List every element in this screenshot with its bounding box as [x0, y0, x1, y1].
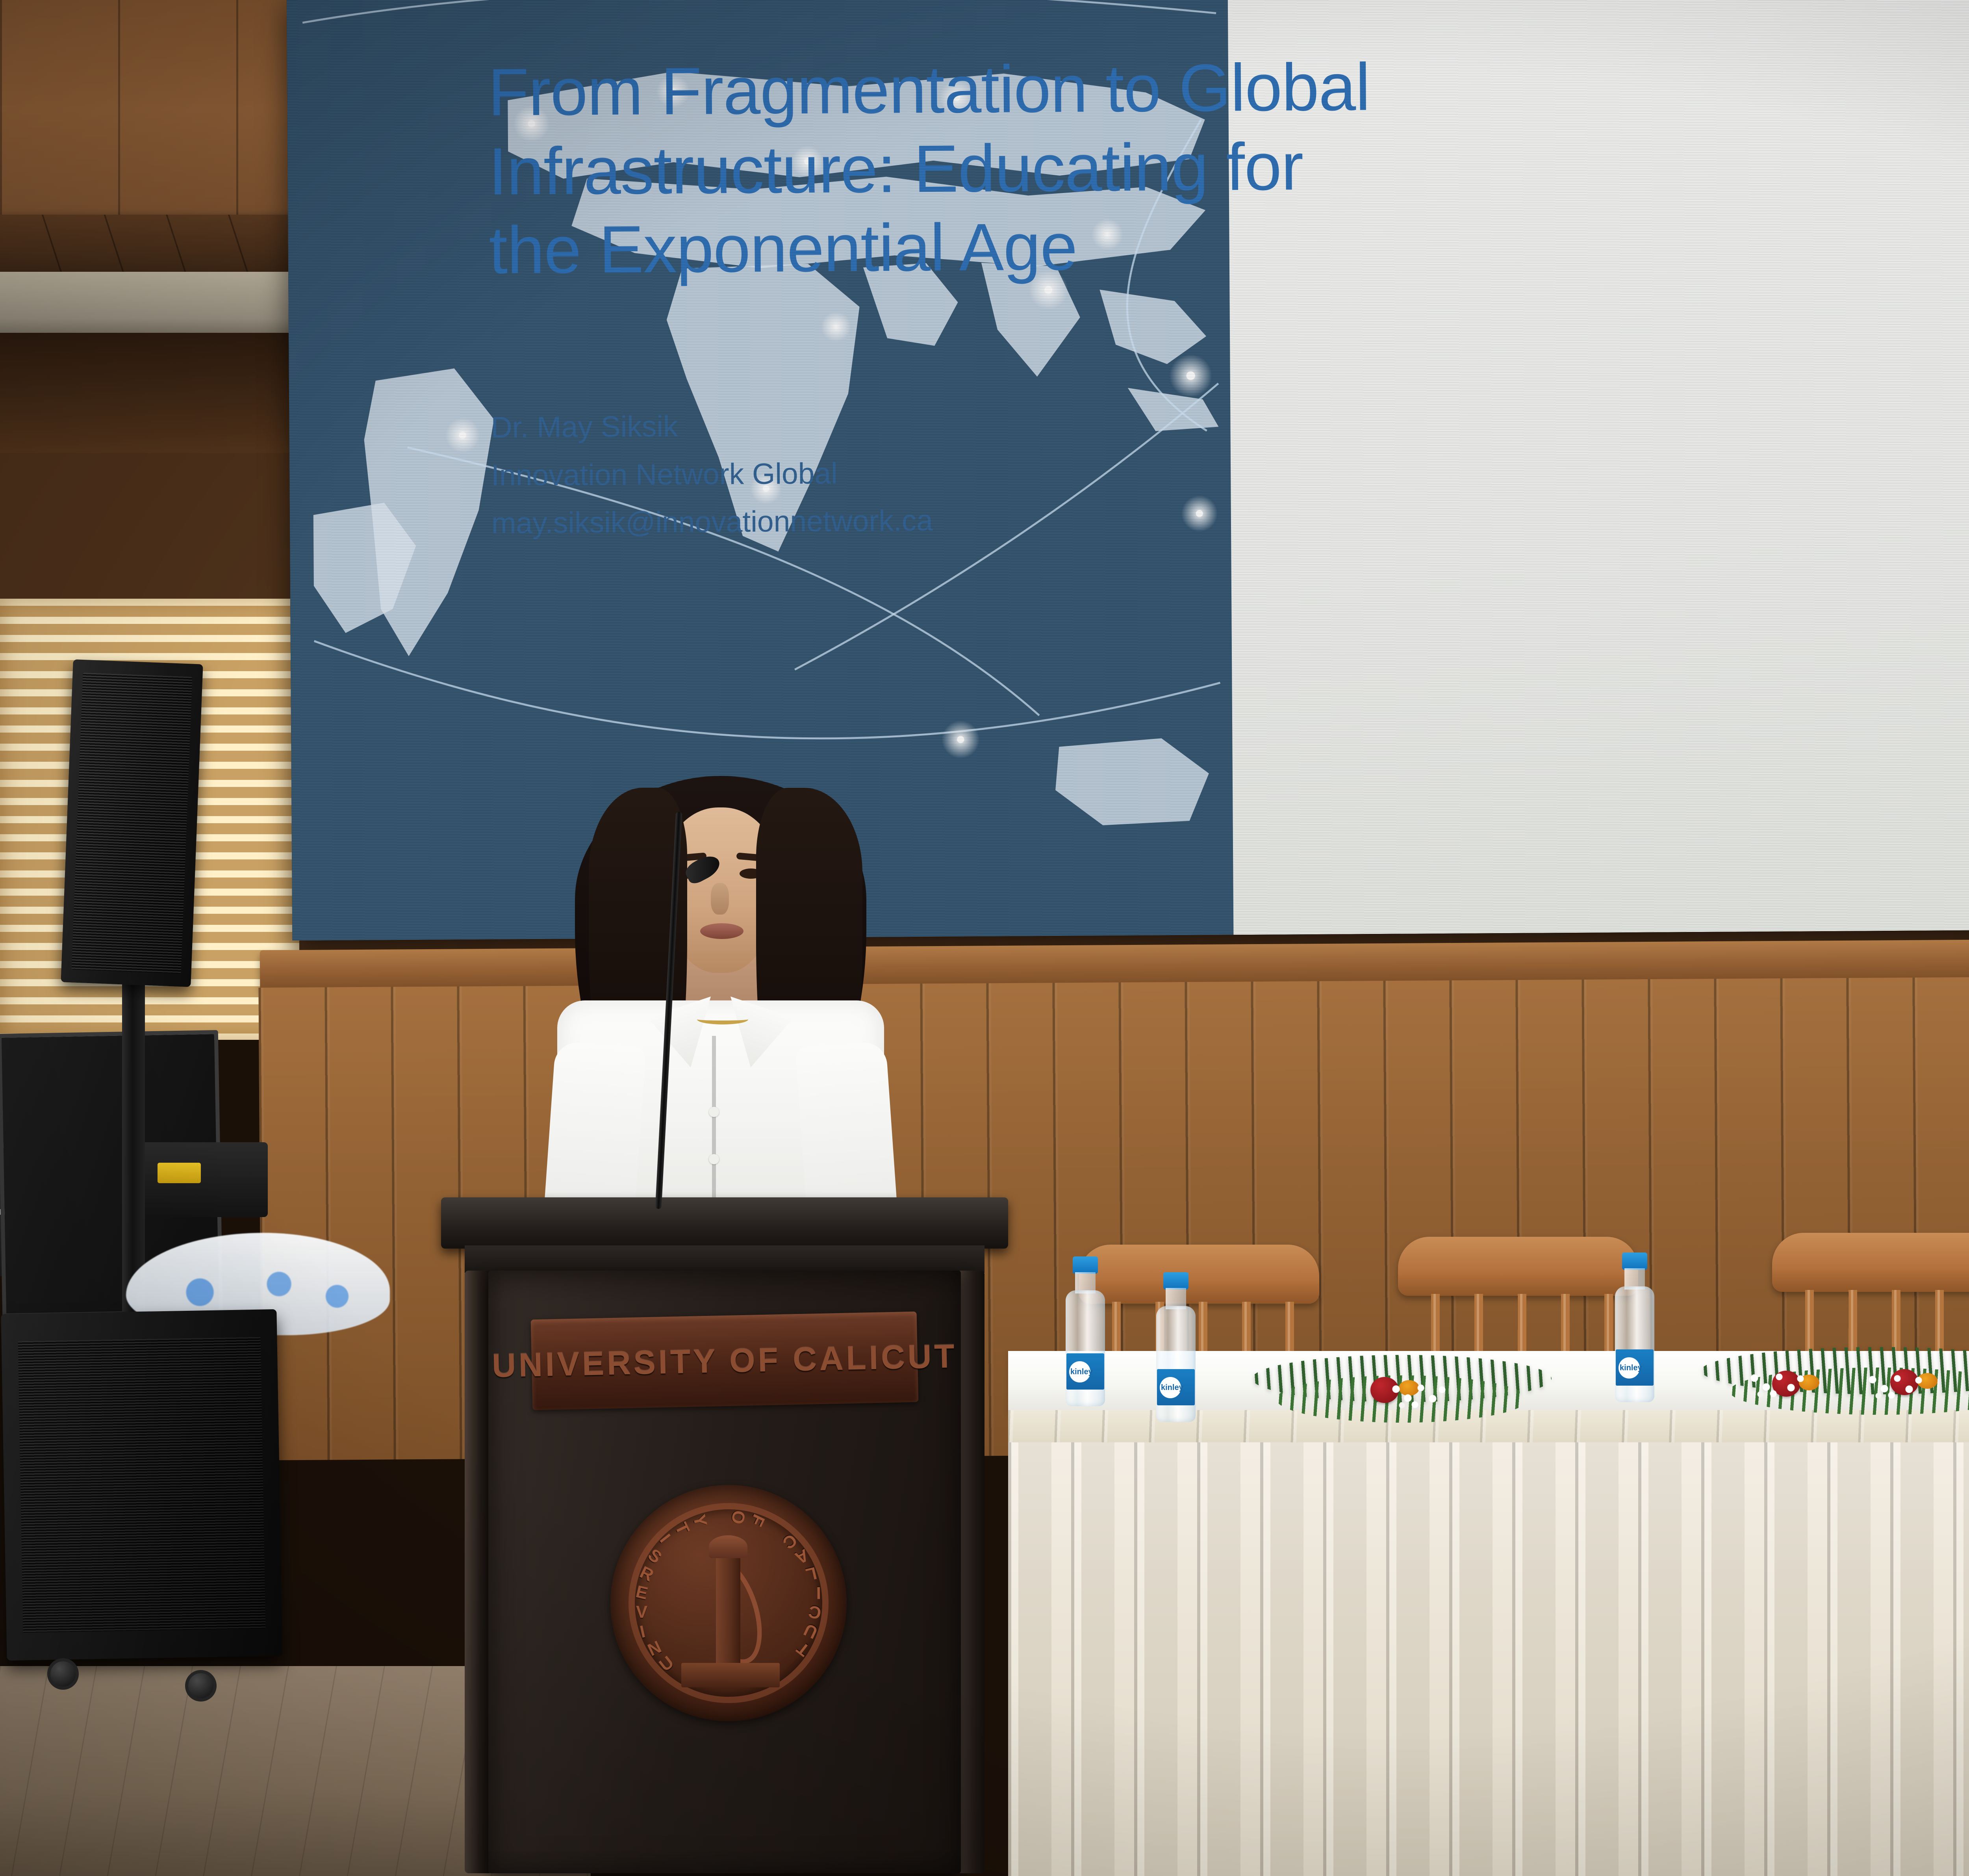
water-bottle: kinley: [1154, 1272, 1198, 1422]
bottle-label: kinley: [1066, 1353, 1104, 1390]
toolbox-latch: [158, 1163, 201, 1183]
floral-arrangement: [1701, 1331, 1969, 1442]
bottle-label: kinley: [1157, 1369, 1195, 1405]
slide-title: From Fragmentation to Global Infrastruct…: [488, 46, 1565, 290]
bottle-cap: [1073, 1256, 1098, 1274]
caster-wheel: [47, 1658, 79, 1690]
bottle-brand: kinley: [1070, 1368, 1090, 1377]
table-skirt: [1008, 1442, 1969, 1876]
slide-email: may.siksik@innovationnetwork.ca: [491, 493, 1516, 547]
gypsophila-cluster: [1748, 1369, 1808, 1399]
seal-ring-char: F: [746, 1511, 769, 1529]
conference-photo-scene: From Fragmentation to Global Infrastruct…: [0, 0, 1969, 1876]
subwoofer: [1, 1309, 282, 1661]
gypsophila-cluster: [1867, 1371, 1926, 1401]
gypsophila-cluster: [1390, 1380, 1449, 1410]
seal-ring-char: L: [804, 1563, 819, 1585]
seal-ring-char: I: [656, 1531, 674, 1547]
seal-ring-char: V: [636, 1602, 648, 1622]
chair-backrest: [1772, 1233, 1969, 1292]
bottle-cap: [1622, 1253, 1647, 1270]
water-bottle: kinley: [1063, 1256, 1107, 1406]
podium-neck: [465, 1245, 984, 1273]
bottle-cap: [1163, 1272, 1188, 1290]
slide-presenter-block: Dr. May Siksik Innovation Network Global…: [491, 397, 1515, 547]
presenter-necklace: [697, 1014, 748, 1024]
presenter: [504, 760, 937, 1253]
chair-backrest: [1079, 1245, 1319, 1304]
seal-ring-char: I: [638, 1622, 647, 1642]
slide-title-line-2: Infrastructure: Educating for: [488, 126, 1564, 211]
slide-organization: Innovation Network Global: [491, 445, 1515, 499]
seal-ring-char: Y: [689, 1513, 710, 1529]
shirt-button: [709, 1154, 719, 1164]
bottle-label: kinley: [1616, 1349, 1654, 1386]
floral-arrangement: [1252, 1339, 1552, 1442]
seal-lighthouse-cap: [709, 1535, 747, 1558]
slide-title-line-3: the Exponential Age: [489, 204, 1564, 290]
shirt-button: [709, 1107, 719, 1117]
podium-column-right: [957, 1271, 984, 1873]
podium-nameplate: UNIVERSITY OF CALICUT: [531, 1312, 919, 1410]
slide-presenter-name: Dr. May Siksik: [491, 397, 1515, 451]
bottle-brand: kinley: [1620, 1364, 1639, 1373]
speaker-left: [61, 659, 203, 987]
seal-lighthouse-pillar: [716, 1552, 740, 1666]
presenter-mouth: [700, 923, 743, 939]
podium: UNIVERSITY OF CALICUT UNIVERSITYOFCALICU…: [441, 1197, 1008, 1876]
caster-wheel: [185, 1670, 217, 1702]
water-bottle: kinley: [1613, 1253, 1657, 1402]
podium-nameplate-text: UNIVERSITY OF CALICUT: [491, 1337, 957, 1385]
seal-ring-char: O: [727, 1509, 749, 1526]
seal-base: [681, 1663, 780, 1687]
chair-backrest: [1398, 1237, 1638, 1296]
university-seal: UNIVERSITYOFCALICUT: [610, 1485, 847, 1721]
seal-ring-char: I: [816, 1583, 821, 1602]
presenter-nose: [711, 883, 729, 915]
podium-top: [441, 1197, 1008, 1249]
slide-title-line-1: From Fragmentation to Global: [488, 46, 1563, 132]
bottle-brand: kinley: [1161, 1383, 1181, 1392]
